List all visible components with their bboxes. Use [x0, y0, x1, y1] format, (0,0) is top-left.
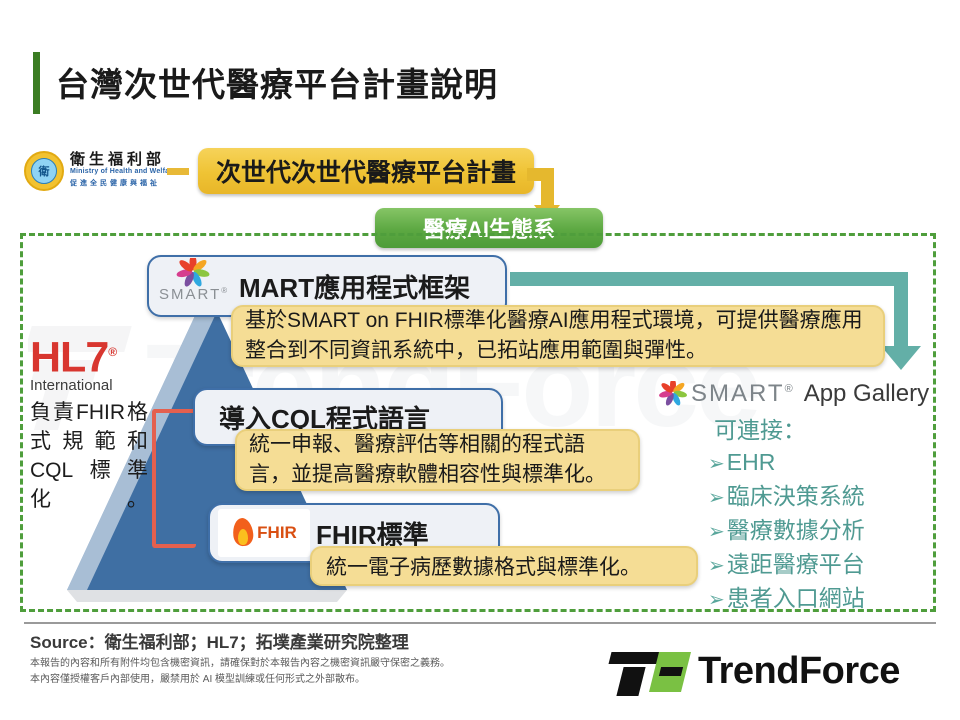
- smart-logo-word: SMART®: [159, 286, 229, 303]
- gallery-header: SMART® App Gallery: [658, 380, 938, 408]
- disclaimer: 本報告的內容和所有附件均包含機密資訊，請確保對於本報告內容之機密資訊嚴守保密之義…: [30, 656, 450, 688]
- title-accent-bar: [33, 52, 40, 114]
- layer-title-smart: MART應用程式框架: [239, 268, 470, 305]
- list-item[interactable]: ➢遠距醫療平台: [708, 548, 938, 582]
- ministry-name-cn: 衛生福利部: [70, 148, 165, 169]
- ministry-slogan: 促進全民健康與福祉: [70, 178, 160, 188]
- arrow-bullet-icon: ➢: [708, 453, 725, 475]
- list-item[interactable]: ➢患者入口網站: [708, 582, 938, 616]
- ministry-seal-mark: 衛: [39, 163, 50, 179]
- trendforce-wordmark: TrendForce: [698, 650, 900, 693]
- list-item[interactable]: ➢醫療數據分析: [708, 514, 938, 548]
- layer-callout-cql: 統一申報、醫療評估等相關的程式語言，並提高醫療軟體相容性與標準化。: [235, 429, 640, 491]
- program-pill: 次世代次世代醫療平台計畫: [198, 148, 534, 194]
- trendforce-logo: TrendForce: [610, 648, 940, 696]
- gallery-intro: 可連接：: [714, 414, 938, 446]
- arrow-bullet-icon: ➢: [708, 555, 725, 577]
- ministry-seal-icon: 衛: [24, 151, 64, 191]
- smart-app-gallery: SMART® App Gallery 可連接： ➢EHR ➢臨床決策系統 ➢醫療…: [658, 380, 938, 616]
- hl7-block: HL7® International 負責FHIR格式規範和CQL標準化。: [30, 330, 160, 514]
- arrow-bullet-icon: ➢: [708, 589, 725, 611]
- hl7-description: 負責FHIR格式規範和CQL標準化。: [30, 398, 148, 514]
- teal-arrow-vertical: [894, 272, 908, 350]
- gallery-label: App Gallery: [804, 380, 929, 408]
- fhir-logo-word: FHIR: [257, 523, 297, 543]
- arrow-bullet-icon: ➢: [708, 521, 725, 543]
- teal-arrow-head-icon: [881, 346, 921, 370]
- gallery-logo-word: SMART®: [691, 380, 795, 408]
- trendforce-mark-icon: [610, 652, 690, 692]
- gallery-list: ➢EHR ➢臨床決策系統 ➢醫療數據分析 ➢遠距醫療平台 ➢患者入口網站: [708, 446, 938, 616]
- list-item[interactable]: ➢EHR: [708, 446, 938, 480]
- disclaimer-line-2: 本內容僅授權客戶內部使用，嚴禁用於 AI 模型訓練或任何形式之外部散布。: [30, 672, 450, 688]
- source-line: Source：衛生福利部；HL7；拓墣產業研究院整理: [30, 628, 409, 653]
- teal-arrow-horizontal: [510, 272, 908, 286]
- ministry-seal-inner: 衛: [31, 158, 57, 184]
- flame-icon: [231, 518, 255, 548]
- slide-root: 台灣次世代醫療平台計畫說明 衛 衛生福利部 Ministry of Health…: [0, 0, 960, 720]
- layer-callout-fhir: 統一電子病歷數據格式與標準化。: [310, 546, 698, 586]
- ministry-connector: [167, 168, 189, 175]
- yellow-arrow-vertical: [541, 168, 554, 210]
- smart-logo-icon: SMART®: [159, 260, 233, 312]
- list-item[interactable]: ➢臨床決策系統: [708, 480, 938, 514]
- arrow-bullet-icon: ➢: [708, 487, 725, 509]
- page-title: 台灣次世代醫療平台計畫說明: [56, 58, 498, 106]
- disclaimer-line-1: 本報告的內容和所有附件均包含機密資訊，請確保對於本報告內容之機密資訊嚴守保密之義…: [30, 656, 450, 672]
- hl7-subtitle: International: [30, 377, 160, 394]
- fhir-logo-icon: FHIR: [218, 509, 310, 557]
- ministry-name-en: Ministry of Health and Welfare: [70, 168, 176, 175]
- layer-callout-smart: 基於SMART on FHIR標準化醫療AI應用程式環境，可提供醫療應用整合到不…: [231, 305, 885, 367]
- footer-divider: [24, 622, 936, 624]
- hl7-logo-word: HL7®: [30, 330, 160, 379]
- smart-gallery-logo-icon: [658, 381, 688, 407]
